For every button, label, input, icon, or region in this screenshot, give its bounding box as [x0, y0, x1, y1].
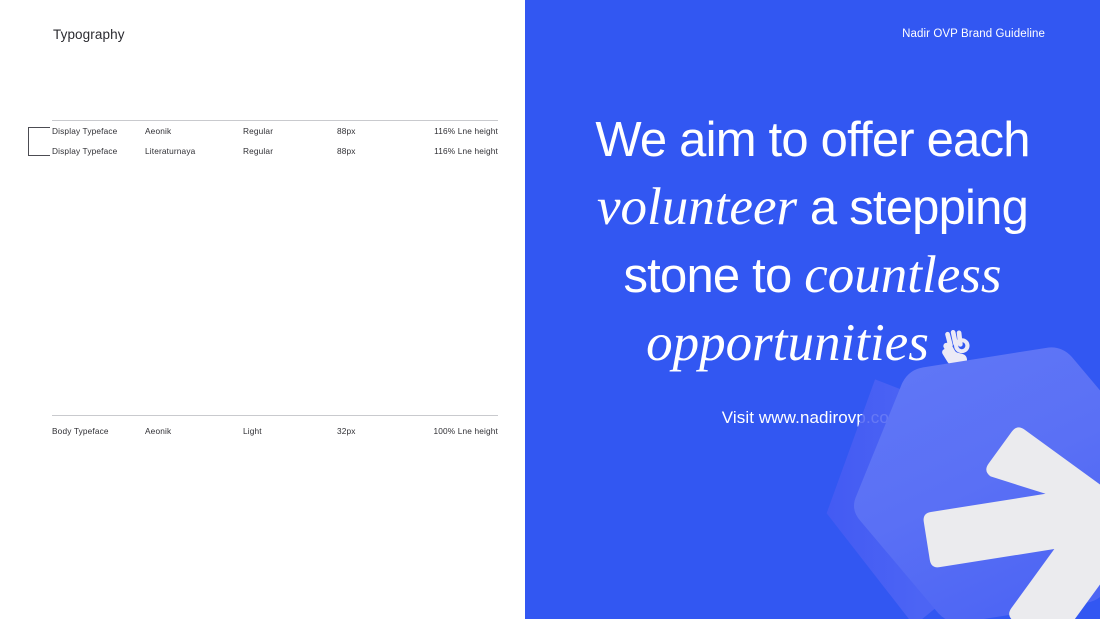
- cell-family: Aeonik: [145, 126, 243, 136]
- table-row: Display Typeface Aeonik Regular 88px 116…: [52, 121, 498, 141]
- cell-weight: Regular: [243, 146, 337, 156]
- table-row: Body Typeface Aeonik Light 32px 100% Lne…: [52, 421, 498, 441]
- cell-line-height: 116% Lne height: [432, 146, 498, 156]
- headline-line-2: volunteer a stepping: [539, 174, 1086, 242]
- cell-family: Literaturnaya: [145, 146, 243, 156]
- body-typeface-table: Body Typeface Aeonik Light 32px 100% Lne…: [52, 415, 498, 441]
- cell-size: 88px: [337, 146, 432, 156]
- cell-role: Display Typeface: [52, 146, 145, 156]
- cell-family: Aeonik: [145, 426, 243, 436]
- cell-line-height: 100% Lne height: [432, 426, 498, 436]
- display-typeface-table: Display Typeface Aeonik Regular 88px 116…: [52, 120, 498, 161]
- headline-text: We aim to offer each: [595, 113, 1029, 167]
- headline-serif-word: volunteer: [597, 178, 797, 236]
- headline-text: stone to: [623, 249, 804, 303]
- cell-size: 32px: [337, 426, 432, 436]
- brand-slide-panel: Nadir OVP Brand Guideline We aim to offe…: [525, 0, 1100, 619]
- brand-guideline-label: Nadir OVP Brand Guideline: [902, 28, 1045, 40]
- cell-weight: Light: [243, 426, 337, 436]
- page-title: Typography: [53, 27, 125, 42]
- typography-spec-panel: Typography Display Typeface Aeonik Regul…: [0, 0, 525, 619]
- cell-size: 88px: [337, 126, 432, 136]
- cell-weight: Regular: [243, 126, 337, 136]
- cell-role: Display Typeface: [52, 126, 145, 136]
- cell-role: Body Typeface: [52, 426, 145, 436]
- brand-guideline-page: Typography Display Typeface Aeonik Regul…: [0, 0, 1100, 619]
- headline-line-1: We aim to offer each: [539, 107, 1086, 174]
- headline-text: a stepping: [797, 181, 1028, 235]
- table-divider: [52, 415, 498, 416]
- cell-line-height: 116% Lne height: [432, 126, 498, 136]
- display-group-bracket: [28, 127, 50, 156]
- table-row: Display Typeface Literaturnaya Regular 8…: [52, 141, 498, 161]
